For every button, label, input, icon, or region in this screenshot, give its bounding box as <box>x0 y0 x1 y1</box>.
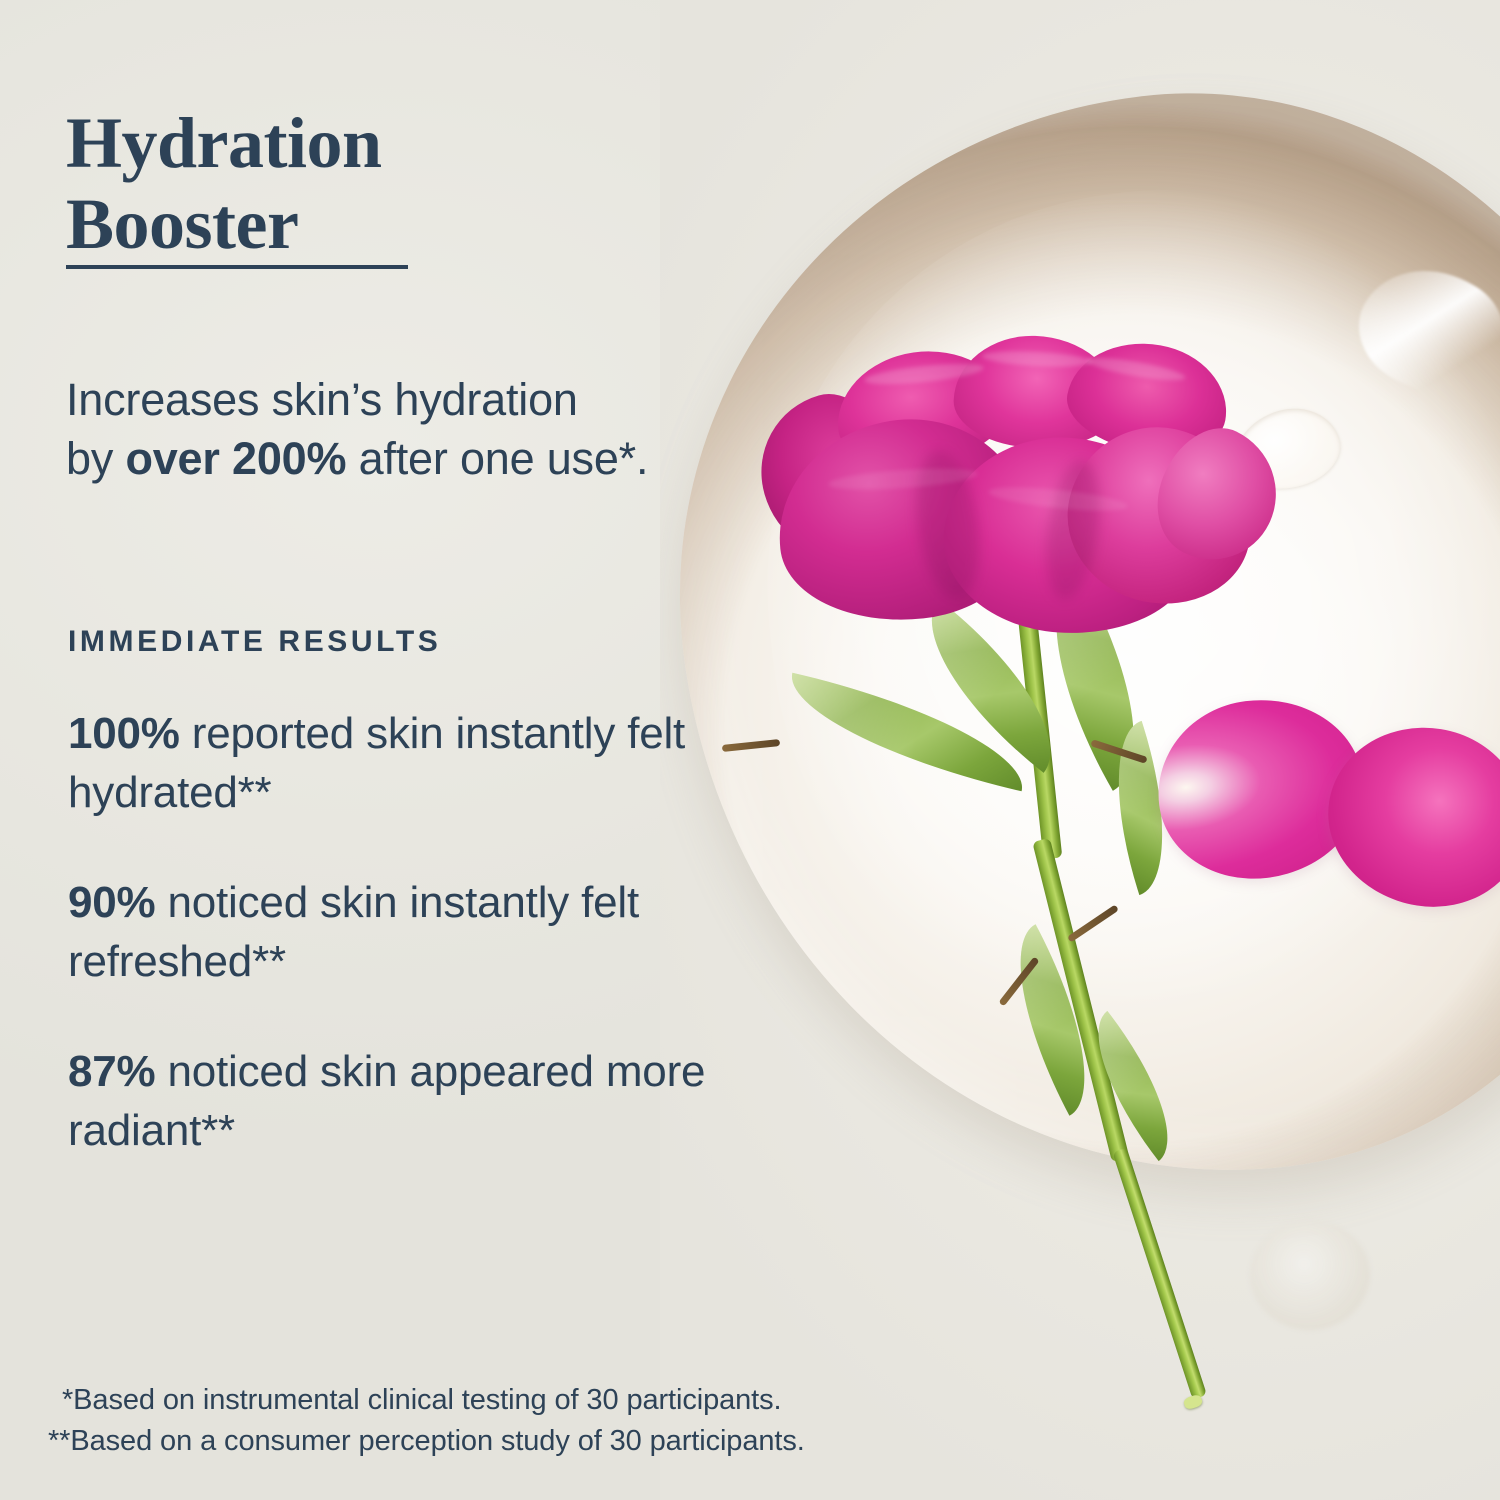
title-line-2: Booster <box>66 184 298 264</box>
claim-emphasis: over 200% <box>125 433 346 484</box>
results-list: 100% reported skin instantly felt hydrat… <box>68 705 768 1212</box>
footnotes: *Based on instrumental clinical testing … <box>48 1380 1048 1462</box>
rose-bloom <box>768 300 1268 630</box>
title-divider <box>66 265 408 269</box>
result-description: noticed skin appeared more radiant** <box>68 1047 705 1155</box>
result-percentage: 87% <box>68 1047 155 1096</box>
footnote-double-asterisk: **Based on a consumer perception study o… <box>48 1421 1048 1462</box>
page-title: Hydration Booster <box>66 103 686 264</box>
product-detail-image: Hydration Booster Increases skin’s hydra… <box>0 0 1500 1500</box>
result-percentage: 100% <box>68 709 180 758</box>
result-item: 90% noticed skin instantly felt refreshe… <box>68 874 768 991</box>
claim-prefix: by <box>66 433 125 484</box>
claim-suffix: after one use*. <box>346 433 648 484</box>
table-droplet-shadow <box>1250 1220 1370 1330</box>
results-section-label: IMMEDIATE RESULTS <box>68 625 441 659</box>
footnote-single-asterisk: *Based on instrumental clinical testing … <box>48 1380 1048 1421</box>
product-photograph <box>660 0 1500 1500</box>
primary-claim: Increases skin’s hydration by over 200% … <box>66 370 796 489</box>
claim-lead: Increases skin’s hydration <box>66 374 578 425</box>
title-line-1: Hydration <box>66 103 382 183</box>
result-item: 87% noticed skin appeared more radiant** <box>68 1043 768 1160</box>
result-item: 100% reported skin instantly felt hydrat… <box>68 705 768 822</box>
result-percentage: 90% <box>68 878 155 927</box>
